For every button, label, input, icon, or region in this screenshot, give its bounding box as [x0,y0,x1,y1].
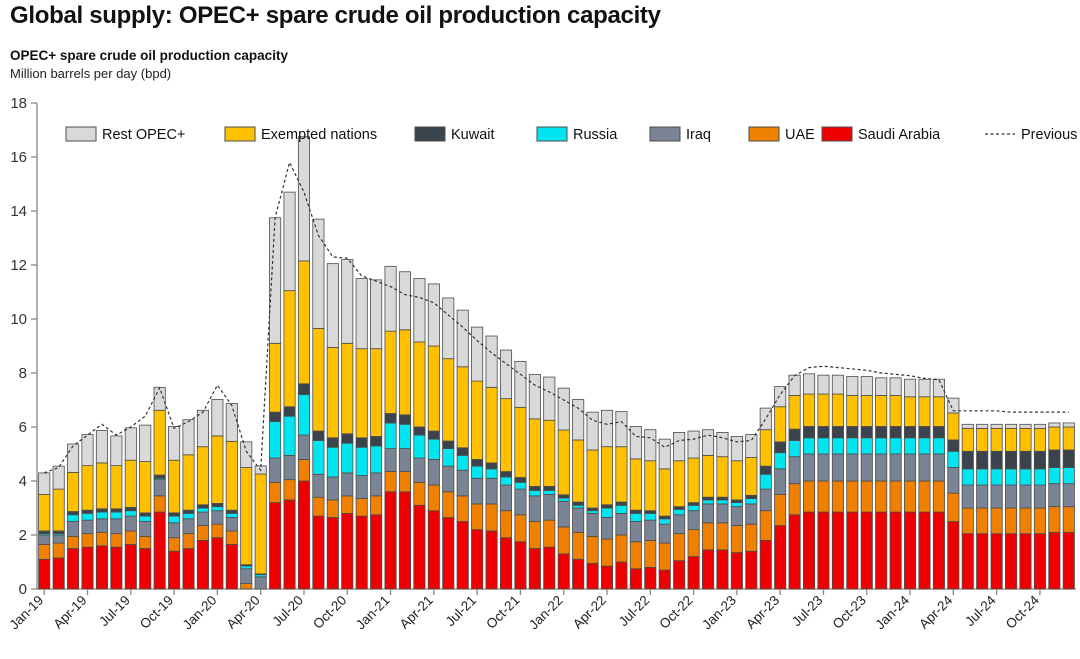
legend-item[interactable]: Saudi Arabia [822,127,941,143]
bar-segment [616,412,627,447]
bar-segment [616,562,627,589]
bar-segment [948,451,959,467]
bar-segment [342,473,353,496]
bar-segment [53,531,64,534]
bar-segment [168,523,179,538]
bar-segment [1005,508,1016,534]
bar-column [53,466,64,589]
bar-segment [370,280,381,349]
bar-column [197,410,208,589]
bar-column [731,436,742,589]
bar-segment [327,347,338,437]
bar-segment [659,570,670,589]
bar-segment [226,513,237,517]
bar-segment [111,466,122,509]
bar-segment [1063,423,1074,427]
bar-segment [1034,508,1045,534]
bar-segment [933,438,944,454]
bar-segment [674,461,685,507]
bar-segment [573,440,584,502]
legend-item[interactable]: Iraq [650,127,711,143]
bar-segment [746,504,757,524]
bar-segment [472,327,483,381]
bar-column [818,375,829,589]
bar-segment [183,534,194,549]
bar-segment [775,495,786,526]
bar-segment [500,350,511,399]
bar-segment [356,349,367,438]
bar-segment [226,544,237,589]
bar-column [775,387,786,590]
bar-column [212,399,223,589]
bar-segment [948,493,959,521]
bar-segment [558,495,569,498]
bar-segment [977,508,988,534]
legend-swatch [749,127,779,141]
bar-segment [977,428,988,451]
bar-segment [96,463,107,509]
bar-segment [443,449,454,467]
bar-segment [601,517,612,539]
y-tick-label: 14 [10,203,27,220]
x-tick-label: Oct-23 [830,593,869,632]
bar-segment [818,426,829,437]
bar-segment [443,492,454,518]
bar-column [616,412,627,589]
bar-segment [731,507,742,526]
bar-column [861,377,872,589]
bar-segment [197,540,208,589]
bar-segment [298,481,309,589]
legend-label: Saudi Arabia [858,127,941,143]
bar-segment [731,500,742,503]
bar-column [645,430,656,589]
bar-segment [775,442,786,453]
bar-segment [140,536,151,548]
bar-segment [356,279,367,349]
bar-segment [370,473,381,496]
bar-segment [1063,468,1074,484]
bar-segment [832,454,843,481]
bar-segment [587,511,598,514]
bar-segment [890,426,901,437]
bar-segment [933,426,944,437]
bar-segment [890,395,901,426]
bar-segment [904,481,915,512]
bar-segment [39,473,50,495]
bar-segment [226,517,237,531]
bar-segment [919,397,930,427]
bar-segment [1020,534,1031,589]
bar-segment [356,516,367,589]
bar-column [789,375,800,589]
bar-segment [472,478,483,504]
bar-segment [861,395,872,426]
bar-segment [385,492,396,589]
bar-column [991,424,1002,589]
bar-segment [1020,485,1031,508]
bar-segment [500,538,511,589]
legend-label: UAE [785,127,815,143]
bar-segment [717,523,728,550]
bar-segment [168,460,179,513]
bar-segment [601,447,612,505]
bar-segment [1063,427,1074,450]
bar-segment [370,349,381,437]
bar-segment [832,512,843,589]
bar-segment [601,566,612,589]
bar-segment [327,517,338,589]
bar-segment [674,507,685,510]
bar-segment [443,466,454,492]
bar-segment [39,535,50,544]
bar-segment [1020,428,1031,451]
bar-segment [1034,469,1045,485]
bar-segment [111,509,122,512]
bar-column [168,426,179,589]
legend-item[interactable]: UAE [749,127,815,143]
stacked-bar-chart: 024681012141618Jan-19Apr-19Jul-19Oct-19J… [0,0,1080,659]
bar-segment [876,438,887,454]
bar-segment [140,549,151,590]
bar-segment [601,508,612,517]
bar-segment [991,485,1002,508]
bar-column [630,426,641,589]
bar-column [96,431,107,589]
bar-segment [789,515,800,589]
bar-segment [544,520,555,547]
bar-segment [399,415,410,424]
bar-segment [183,455,194,510]
bar-column [876,378,887,589]
bar-segment [269,412,280,421]
x-tick-label: Oct-24 [1003,592,1043,632]
bar-segment [486,478,497,504]
bar-segment [226,404,237,442]
bar-column [688,431,699,589]
bar-segment [775,469,786,495]
bar-column [284,192,295,589]
bar-segment [168,513,179,516]
bar-segment [327,264,338,348]
bar-segment [385,423,396,449]
bar-segment [472,466,483,478]
bar-column [269,218,280,589]
bar-column [443,298,454,589]
bar-segment [962,469,973,485]
bar-segment [443,517,454,589]
x-tick-label: Apr-21 [397,593,436,632]
bar-segment [168,551,179,589]
bar-segment [746,495,757,498]
bar-segment [630,510,641,513]
bar-segment [414,342,425,427]
bar-segment [775,453,786,469]
bar-segment [414,279,425,342]
bar-segment [529,522,540,549]
bar-segment [183,519,194,534]
bar-segment [125,544,136,589]
bar-segment [168,426,179,460]
bar-segment [486,469,497,478]
bar-segment [977,451,988,469]
bar-segment [197,508,208,512]
bar-segment [486,336,497,387]
bar-segment [890,512,901,589]
bar-segment [876,481,887,512]
legend-label: Kuwait [451,127,495,143]
bar-column [327,264,338,589]
x-axis-labels: Jan-19Apr-19Jul-19Oct-19Jan-20Apr-20Jul-… [7,589,1043,632]
bar-column [82,435,93,589]
bar-segment [630,542,641,569]
bar-column [356,279,367,590]
bar-segment [428,459,439,485]
bar-column [140,425,151,589]
bar-segment [587,450,598,508]
bar-segment [529,496,540,522]
bar-segment [284,455,295,479]
bar-column [428,284,439,589]
bar-segment [702,497,713,500]
bar-segment [443,441,454,449]
bar-segment [370,446,381,473]
bar-column [919,379,930,589]
bar-segment [457,470,468,496]
bar-segment [298,435,309,459]
y-tick-label: 10 [10,311,27,328]
bar-segment [125,531,136,545]
bar-segment [1034,534,1045,589]
bar-segment [428,485,439,511]
bar-segment [674,561,685,589]
bar-segment [933,454,944,481]
bar-segment [183,510,194,513]
bar-segment [515,542,526,589]
bar-segment [587,536,598,563]
bar-segment [269,503,280,589]
bar-segment [486,463,497,469]
bar-segment [616,447,627,502]
bar-segment [269,458,280,482]
bar-column [183,420,194,589]
bar-segment [241,569,252,584]
bar-column [587,412,598,589]
bar-segment [313,474,324,497]
bar-column [962,424,973,589]
bar-segment [962,534,973,589]
bar-segment [1005,424,1016,428]
bar-segment [558,554,569,589]
bar-segment [399,424,410,448]
bar-segment [1049,484,1060,507]
bar-segment [67,512,78,515]
bar-segment [385,331,396,413]
bar-segment [558,501,569,527]
x-tick-label: Jul-21 [443,593,480,630]
bar-segment [731,436,742,460]
bar-segment [298,395,309,436]
bar-segment [544,486,555,490]
bar-segment [154,475,165,478]
bar-segment [991,451,1002,469]
bar-column [241,442,252,589]
bar-segment [645,430,656,461]
bar-segment [702,523,713,550]
bar-segment [847,481,858,512]
bar-segment [717,550,728,589]
bar-column [573,399,584,589]
x-tick-label: Apr-19 [50,593,89,632]
x-tick-label: Jul-24 [962,592,999,629]
bar-segment [529,486,540,490]
bar-segment [832,438,843,454]
bar-segment [847,438,858,454]
bar-segment [154,480,165,496]
bar-segment [876,426,887,437]
bar-segment [472,459,483,466]
bar-segment [125,460,136,507]
bar-segment [1049,423,1060,427]
bar-segment [818,375,829,394]
bar-segment [154,410,165,475]
bar-segment [515,482,526,489]
legend-item[interactable]: Exempted nations [225,127,377,143]
bar-segment [428,511,439,589]
bar-segment [573,505,584,508]
bar-segment [659,543,670,570]
bar-segment [472,530,483,589]
bar-column [702,430,713,589]
bar-segment [587,563,598,589]
x-tick-label: Jul-23 [789,593,826,630]
bar-segment [674,509,685,514]
legend-item[interactable]: Previous [985,127,1077,143]
bar-segment [370,436,381,445]
bar-segment [991,424,1002,428]
legend-item[interactable]: Russia [537,127,618,143]
bar-segment [731,461,742,500]
bar-segment [890,438,901,454]
bar-column [313,219,324,589]
bar-segment [269,422,280,458]
bar-segment [645,520,656,540]
bar-segment [399,472,410,492]
bar-segment [39,495,50,531]
bar-segment [746,524,757,551]
bar-segment [717,504,728,523]
bar-segment [82,513,93,520]
bar-segment [414,435,425,458]
bar-segment [212,538,223,589]
bar-segment [904,454,915,481]
bar-segment [803,426,814,437]
y-tick-label: 4 [19,473,27,490]
legend-item[interactable]: Kuwait [415,127,495,143]
bar-segment [1034,451,1045,469]
x-tick-label: Jul-19 [96,593,133,630]
bar-segment [861,512,872,589]
bar-segment [1063,507,1074,533]
bar-column [486,336,497,589]
bar-segment [818,438,829,454]
bar-segment [890,454,901,481]
bar-segment [558,498,569,501]
bar-segment [933,512,944,589]
bar-segment [544,547,555,589]
bar-segment [760,489,771,511]
bar-segment [342,434,353,443]
bar-segment [183,420,194,455]
bar-column [385,266,396,589]
bar-segment [803,454,814,481]
x-tick-label: Oct-19 [137,593,176,632]
bar-segment [717,500,728,504]
bar-column [890,378,901,589]
bar-segment [904,379,915,397]
x-tick-label: Apr-24 [916,592,956,632]
x-tick-label: Jan-21 [353,593,393,633]
bar-segment [1034,428,1045,451]
bar-column [904,379,915,589]
bar-segment [53,535,64,543]
bar-segment [241,442,252,468]
bar-segment [67,536,78,548]
bar-segment [803,512,814,589]
legend-label: Russia [573,127,618,143]
bar-column [1049,423,1060,589]
bar-segment [67,444,78,472]
bar-segment [342,496,353,514]
bar-segment [890,481,901,512]
bar-segment [573,532,584,559]
bar-segment [803,481,814,512]
bar-segment [197,410,208,446]
bar-segment [226,441,237,510]
bar-segment [587,412,598,450]
bar-segment [832,426,843,437]
legend-item[interactable]: Rest OPEC+ [66,127,185,143]
bar-segment [327,477,338,500]
legend-swatch [822,127,852,141]
bar-segment [82,520,93,534]
bar-segment [991,428,1002,451]
bar-segment [702,550,713,589]
bar-column [111,436,122,589]
bar-segment [457,496,468,522]
bar-segment [630,522,641,542]
bar-segment [544,377,555,420]
bar-column [1034,424,1045,589]
bar-segment [212,524,223,538]
bar-segment [688,557,699,589]
bar-segment [370,496,381,515]
bar-segment [731,526,742,553]
bar-column [529,374,540,589]
bar-segment [760,474,771,489]
bar-column [39,473,50,589]
bar-segment [385,449,396,472]
bar-segment [82,510,93,513]
legend-swatch [225,127,255,141]
bar-column [1063,423,1074,589]
bar-segment [125,511,136,516]
bar-segment [529,419,540,487]
bar-segment [832,394,843,426]
bar-segment [919,481,930,512]
bar-segment [818,454,829,481]
bar-segment [457,455,468,470]
